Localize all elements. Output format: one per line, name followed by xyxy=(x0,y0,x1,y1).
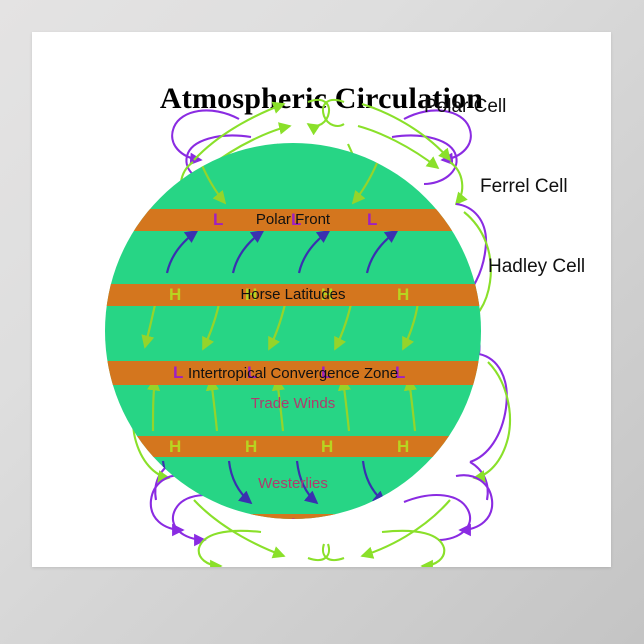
band-label-itcz: Intertropical Convergence Zone xyxy=(105,365,481,382)
globe: L L L Polar Front H H H H Horse Latitude… xyxy=(105,143,481,519)
wind-label-westerlies: Westerlies xyxy=(105,475,481,492)
cell-label-ferrel-cell: Ferrel Cell xyxy=(480,176,568,198)
band-horse-latitudes-south xyxy=(105,436,481,457)
pressure-marker-low: L xyxy=(213,516,223,519)
pressure-marker-high: H xyxy=(321,438,333,455)
band-label-horse-latitudes: Horse Latitudes xyxy=(105,286,481,303)
pressure-marker-low: L xyxy=(367,516,377,519)
pressure-marker-high: H xyxy=(245,438,257,455)
pressure-marker-high: H xyxy=(397,438,409,455)
poster-sheet: Atmospheric Circulation xyxy=(32,32,611,567)
poster-background: Atmospheric Circulation xyxy=(0,0,644,644)
band-label-polar-front: Polar Front xyxy=(105,211,481,228)
surface-wind-arrows xyxy=(105,143,481,519)
cell-label-polar-cell: Polar Cell xyxy=(424,96,506,118)
atmospheric-circulation-diagram: L L L Polar Front H H H H Horse Latitude… xyxy=(32,32,611,567)
wind-label-trade-winds: Trade Winds xyxy=(105,395,481,412)
pressure-marker-low: L xyxy=(291,516,301,519)
cell-label-hadley-cell: Hadley Cell xyxy=(488,256,585,278)
pressure-marker-high: H xyxy=(169,438,181,455)
